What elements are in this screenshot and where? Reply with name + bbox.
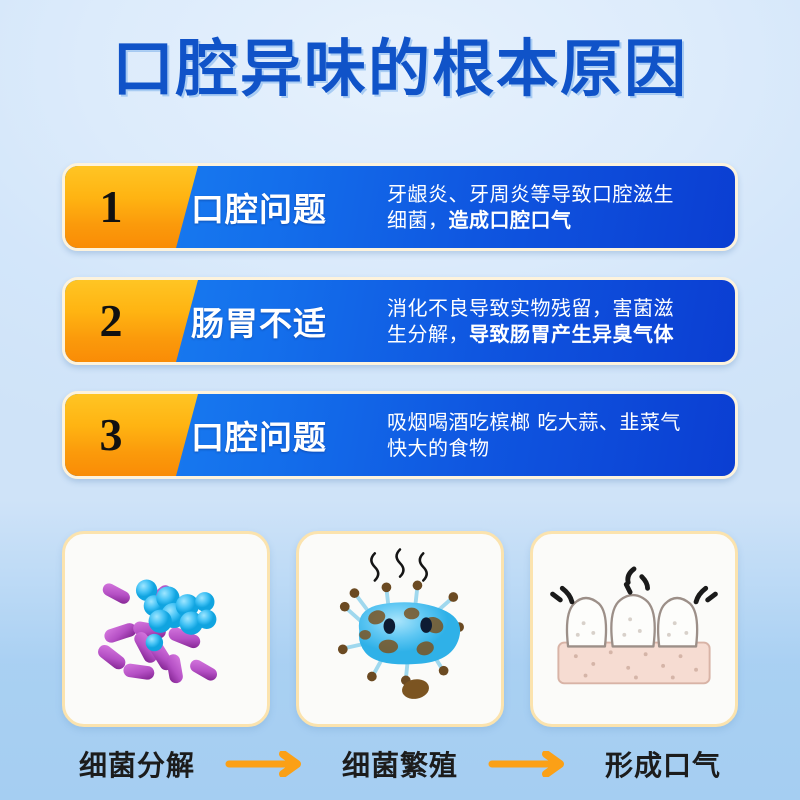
reason-desc-line2-1: 细菌，造成口腔口气 xyxy=(387,207,713,233)
reason-title-2: 肠胃不适 xyxy=(161,280,387,362)
reason-desc-3: 吸烟喝酒吃槟榔 吃大蒜、韭菜气 快大的食物 xyxy=(387,394,735,476)
reason-number-1: 1 xyxy=(100,184,123,230)
reason-desc-line1-1: 牙龈炎、牙周炎等导致口腔滋生 xyxy=(387,181,713,207)
flow-step-1: 细菌分解 xyxy=(62,744,212,784)
illustration-card-3 xyxy=(530,531,738,727)
reason-desc-1: 牙龈炎、牙周炎等导致口腔滋生 细菌，造成口腔口气 xyxy=(387,166,735,248)
reason-number-badge-1: 1 xyxy=(65,166,161,248)
process-flow: 细菌分解 细菌繁殖 形成口气 xyxy=(62,740,738,788)
reason-title-3: 口腔问题 xyxy=(161,394,387,476)
flow-step-3: 形成口气 xyxy=(588,744,738,784)
bacteria-rods-and-cocci-icon xyxy=(65,534,267,724)
illustration-card-list xyxy=(62,531,738,727)
reason-desc-line1-2: 消化不良导致实物残留，害菌滋 xyxy=(387,295,713,321)
page-title-wrap: 口腔异味的根本原因 xyxy=(0,38,800,100)
arrow-right-icon-2 xyxy=(488,751,576,777)
reason-number-2: 2 xyxy=(100,298,123,344)
reason-row-3[interactable]: 3 口腔问题 吸烟喝酒吃槟榔 吃大蒜、韭菜气 快大的食物 xyxy=(62,391,738,479)
illustration-card-2 xyxy=(296,531,504,727)
arrow-right-icon-1 xyxy=(225,751,313,777)
reason-desc-normal-2: 生分解， xyxy=(387,322,469,346)
reason-desc-normal-1: 细菌， xyxy=(387,208,449,232)
reason-desc-bold-2: 导致肠胃产生异臭气体 xyxy=(469,322,674,346)
poster-root: 口腔异味的根本原因 1 口腔问题 牙龈炎、牙周炎等导致口腔滋生 细菌，造成口腔口… xyxy=(0,0,800,800)
reason-desc-bold-1: 造成口腔口气 xyxy=(449,208,572,232)
teeth-on-gum-with-odor-icon xyxy=(533,534,735,724)
reason-desc-line2-3: 快大的食物 xyxy=(387,435,713,461)
reason-number-3: 3 xyxy=(100,412,123,458)
reason-desc-normal-3: 快大的食物 xyxy=(387,436,490,460)
reason-desc-line2-2: 生分解，导致肠胃产生异臭气体 xyxy=(387,321,713,347)
flow-step-2: 细菌繁殖 xyxy=(325,744,475,784)
page-title: 口腔异味的根本原因 xyxy=(112,38,688,100)
cartoon-germ-with-stink-lines-icon xyxy=(299,534,501,724)
reason-number-badge-3: 3 xyxy=(65,394,161,476)
reason-desc-2: 消化不良导致实物残留，害菌滋 生分解，导致肠胃产生异臭气体 xyxy=(387,280,735,362)
reason-row-2[interactable]: 2 肠胃不适 消化不良导致实物残留，害菌滋 生分解，导致肠胃产生异臭气体 xyxy=(62,277,738,365)
illustration-card-1 xyxy=(62,531,270,727)
reason-list: 1 口腔问题 牙龈炎、牙周炎等导致口腔滋生 细菌，造成口腔口气 2 肠胃不适 消… xyxy=(62,163,738,505)
reason-row-1[interactable]: 1 口腔问题 牙龈炎、牙周炎等导致口腔滋生 细菌，造成口腔口气 xyxy=(62,163,738,251)
reason-number-badge-2: 2 xyxy=(65,280,161,362)
reason-desc-line1-3: 吸烟喝酒吃槟榔 吃大蒜、韭菜气 xyxy=(387,409,713,435)
reason-title-1: 口腔问题 xyxy=(161,166,387,248)
